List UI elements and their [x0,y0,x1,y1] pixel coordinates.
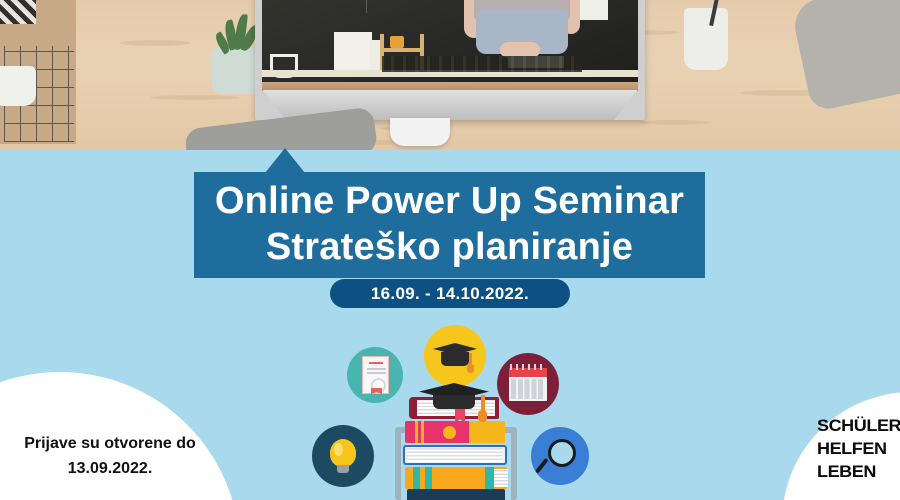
monitor-bezel [262,82,638,91]
book-band [413,467,420,489]
cap-tassel-knot [467,364,474,373]
bulb-highlight [334,443,343,456]
title-line-1: Online Power Up Seminar [194,182,705,220]
logo-line-3: LEBEN [817,464,891,480]
schueler-helfen-leben-logo: SCHÜLER HELFEN LEBEN [817,418,887,480]
monitor-screen [262,0,638,90]
chalk-writing [366,0,439,13]
stack-cap-tassel-knot [478,410,487,422]
calendar-rings [510,364,546,370]
book-band [485,467,494,489]
book-stripe [421,421,424,443]
book-bottom [407,489,505,500]
certificate-title-line [369,362,383,364]
small-pot [390,36,404,48]
monitor-stand [390,118,450,146]
book-circle-detail [443,426,456,439]
registration-note: Prijave su otvorene do 13.09.2022. [0,432,220,482]
white-mug [0,66,36,106]
book-stripe [415,421,418,443]
graduation-cap-icon [424,325,486,387]
stack-cap-base [433,395,475,409]
logo-line-1: SCHÜLER [817,418,891,434]
magnifier-lens [548,439,576,467]
registration-note-line-2: 13.09.2022. [0,457,220,482]
paper-sheet [334,32,372,70]
title-banner: Online Power Up Seminar Strateško planir… [194,172,705,278]
keyboard [382,56,582,72]
title-line-2: Strateško planiranje [194,228,705,266]
magnifier-icon [531,427,589,485]
book-stack-illustration [381,385,531,500]
date-badge: 16.09. - 14.10.2022. [330,279,570,308]
paper-sheet [370,40,380,70]
cap-base [441,352,469,366]
header-photo [0,0,900,150]
logo-line-2: HELFEN [817,441,891,457]
seminar-poster: Online Power Up Seminar Strateško planir… [0,0,900,500]
book-yellow-section [469,421,505,443]
imac-monitor [255,0,645,120]
banner-pointer [265,148,305,173]
certificate-text-line [367,368,386,370]
bulb-base [337,465,349,473]
pen-cup [684,8,728,70]
book-band [425,467,432,489]
striped-note [0,0,36,24]
registration-note-line-1: Prijave su otvorene do [0,432,220,457]
magnifier-handle [535,458,549,474]
lightbulb-icon [312,425,374,487]
book-pages [407,448,503,462]
certificate-text-line [367,372,386,374]
book-pages [494,469,508,487]
stack-cap-tassel [481,395,485,411]
